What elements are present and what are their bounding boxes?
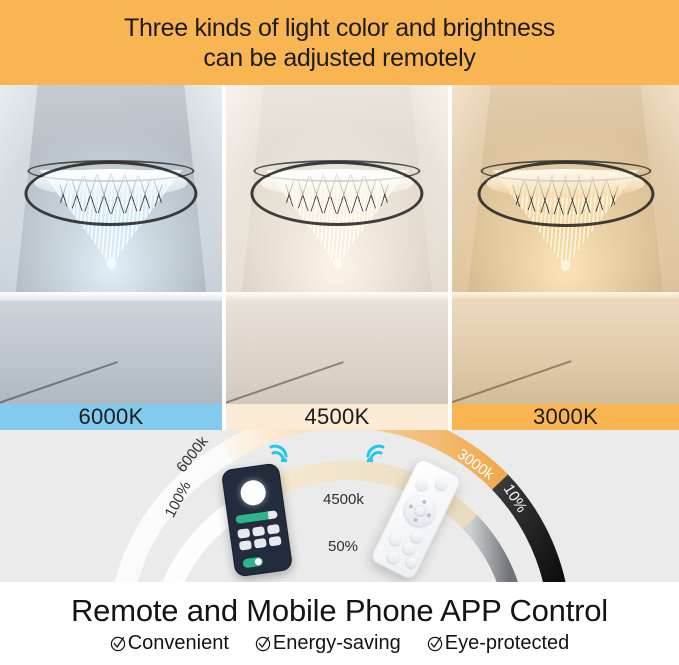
app-key[interactable]	[269, 536, 282, 547]
remote-key-power[interactable]	[434, 477, 449, 492]
footer-title: Remote and Mobile Phone APP Control	[71, 592, 608, 630]
feature-convenient: Convenient	[110, 632, 229, 655]
room-scene	[452, 85, 679, 430]
temp-label-4500k: 4500K	[226, 404, 448, 430]
app-key[interactable]	[237, 528, 250, 539]
chandelier	[477, 161, 654, 227]
temp-label-6000k: 6000K	[0, 404, 222, 430]
panel-3000k	[452, 85, 679, 430]
app-key[interactable]	[239, 540, 252, 551]
remote-key-e[interactable]	[386, 550, 401, 565]
crystal-drop	[107, 258, 116, 269]
feature-label: Convenient	[128, 632, 229, 655]
app-button-grid[interactable]	[237, 524, 282, 551]
header-line-1: Three kinds of light color and brightnes…	[124, 13, 555, 43]
app-dial-knob[interactable]	[239, 479, 267, 507]
lamp-ring	[477, 161, 654, 227]
panel-strip	[0, 85, 679, 430]
footer: Remote and Mobile Phone APP Control Conv…	[0, 582, 679, 665]
infographic-root: Three kinds of light color and brightnes…	[0, 0, 679, 665]
room-scene	[226, 85, 448, 430]
control-dial-section: 6000k 100% 4500k 50% 3000k 10%	[0, 430, 679, 582]
crystal-drop	[561, 260, 570, 271]
app-key[interactable]	[252, 526, 265, 537]
lamp-ring	[24, 161, 197, 226]
app-key[interactable]	[254, 538, 267, 549]
remote-key-a[interactable]	[409, 529, 424, 544]
crystal-drop	[333, 258, 342, 269]
remote-key-d[interactable]	[405, 556, 418, 569]
app-power-toggle[interactable]	[242, 557, 263, 569]
remote-dpad[interactable]	[400, 491, 440, 531]
header-banner: Three kinds of light color and brightnes…	[0, 0, 679, 85]
lamp-rim	[480, 160, 651, 182]
remote-key-c[interactable]	[402, 541, 417, 556]
feature-list: Convenient Energy-saving	[110, 632, 570, 655]
app-key[interactable]	[267, 524, 280, 535]
feature-energy-saving: Energy-saving	[255, 632, 401, 655]
arc-label-4500k: 4500k	[323, 491, 364, 508]
chandelier	[24, 161, 197, 226]
check-circle-icon	[110, 635, 127, 652]
lamp-rim	[27, 160, 194, 182]
remote-key-mode[interactable]	[415, 477, 430, 492]
check-circle-icon	[427, 635, 444, 652]
panel-4500k	[226, 85, 448, 430]
lamp-ring	[250, 161, 423, 226]
arc-label-50pct: 50%	[328, 538, 358, 555]
remote-key-b[interactable]	[388, 532, 403, 547]
app-brightness-slider[interactable]	[235, 510, 278, 524]
feature-label: Energy-saving	[273, 632, 401, 655]
feature-label: Eye-protected	[445, 632, 570, 655]
check-circle-icon	[255, 635, 272, 652]
lamp-rim	[253, 160, 420, 182]
panel-6000k	[0, 85, 222, 430]
room-scene	[0, 85, 222, 430]
header-line-2: can be adjusted remotely	[203, 43, 475, 73]
ledge-top-edge	[226, 292, 448, 301]
chandelier	[250, 161, 423, 226]
ledge-top-edge	[452, 292, 679, 301]
ledge-top-edge	[0, 292, 222, 301]
feature-eye-protected: Eye-protected	[427, 632, 570, 655]
temp-label-3000k: 3000K	[452, 404, 679, 430]
